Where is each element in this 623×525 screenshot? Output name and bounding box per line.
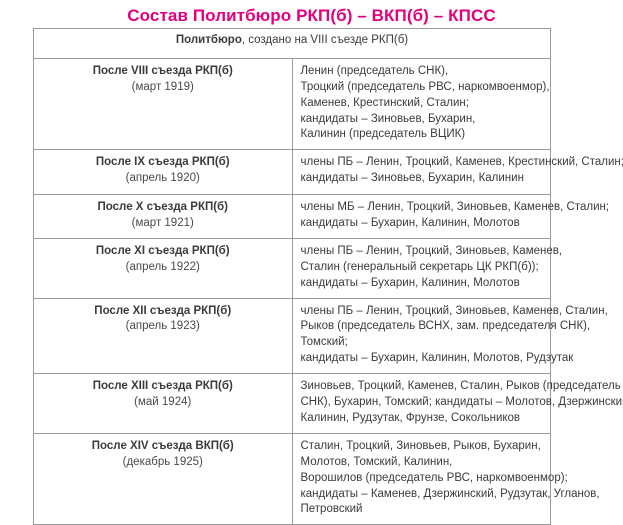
congress-cell: После VIII съезда РКП(б) (март 1919) — [34, 59, 293, 150]
congress-name: После XIV съезда ВКП(б) — [40, 439, 286, 455]
congress-name: После VIII съезда РКП(б) — [40, 64, 286, 80]
table-row: После XI съезда РКП(б) (апрель 1922) чле… — [34, 239, 551, 299]
members-cell: члены ПБ – Ленин, Троцкий, Зиновьев, Кам… — [292, 239, 551, 299]
members-line: Зиновьев, Троцкий, Каменев, Сталин, Рыко… — [301, 379, 545, 395]
page-title: Состав Политбюро РКП(б) – ВКП(б) – КПСС — [0, 6, 623, 26]
members-line: Каменев, Крестинский, Сталин; — [301, 96, 545, 112]
members-line: кандидаты – Бухарин, Калинин, Молотов, Р… — [301, 351, 545, 367]
members-line: Троцкий (председатель РВС, наркомвоенмор… — [301, 80, 545, 96]
congress-date: (апрель 1920) — [40, 171, 286, 187]
table-header-cell: Политбюро, создано на VIII съезде РКП(б) — [34, 29, 551, 59]
politburo-table-body: Политбюро, создано на VIII съезде РКП(б)… — [34, 29, 551, 525]
members-line: Калинин, Рудзутак, Фрунзе, Сокольников — [301, 411, 545, 427]
members-line: Ленин (председатель СНК), — [301, 64, 545, 80]
congress-cell: После XIV съезда ВКП(б) (декабрь 1925) — [34, 434, 293, 525]
table-row: После XIII съезда РКП(б) (май 1924) Зино… — [34, 374, 551, 434]
politburo-table-wrapper: Политбюро, создано на VIII съезде РКП(б)… — [33, 28, 551, 525]
congress-cell: После XI съезда РКП(б) (апрель 1922) — [34, 239, 293, 299]
table-header-strong: Политбюро — [176, 34, 242, 46]
members-cell: Зиновьев, Троцкий, Каменев, Сталин, Рыко… — [292, 374, 551, 434]
members-line: Томский; — [301, 335, 545, 351]
document-page: Состав Политбюро РКП(б) – ВКП(б) – КПСС … — [0, 0, 623, 428]
table-row: После X съезда РКП(б) (март 1921) члены … — [34, 195, 551, 239]
table-header-row: Политбюро, создано на VIII съезде РКП(б) — [34, 29, 551, 59]
members-line: Рыков (председатель ВСНХ, зам. председат… — [301, 319, 545, 335]
table-header-rest: , создано на VIII съезде РКП(б) — [242, 34, 408, 46]
table-row: После IX съезда РКП(б) (апрель 1920) чле… — [34, 150, 551, 195]
congress-cell: После X съезда РКП(б) (март 1921) — [34, 195, 293, 239]
members-cell: члены ПБ – Ленин, Троцкий, Зиновьев, Кам… — [292, 298, 551, 373]
congress-name: После IX съезда РКП(б) — [40, 155, 286, 171]
members-line: Сталин, Троцкий, Зиновьев, Рыков, Бухари… — [301, 439, 545, 455]
congress-date: (март 1921) — [40, 216, 286, 232]
members-line: Ворошилов (председатель РВС, наркомвоенм… — [301, 471, 545, 487]
members-line: Петровский — [301, 502, 545, 518]
members-line: члены ПБ – Ленин, Троцкий, Зиновьев, Кам… — [301, 304, 545, 320]
table-row: После XIV съезда ВКП(б) (декабрь 1925) С… — [34, 434, 551, 525]
congress-cell: После XIII съезда РКП(б) (май 1924) — [34, 374, 293, 434]
members-line: члены ПБ – Ленин, Троцкий, Каменев, Крес… — [301, 155, 545, 171]
members-line: члены ПБ – Ленин, Троцкий, Зиновьев, Кам… — [301, 244, 545, 260]
congress-cell: После IX съезда РКП(б) (апрель 1920) — [34, 150, 293, 195]
members-cell: Сталин, Троцкий, Зиновьев, Рыков, Бухари… — [292, 434, 551, 525]
table-row: После XII съезда РКП(б) (апрель 1923) чл… — [34, 298, 551, 373]
congress-date: (март 1919) — [40, 80, 286, 96]
congress-date: (декабрь 1925) — [40, 455, 286, 471]
members-line: кандидаты – Зиновьев, Бухарин, Калинин — [301, 171, 545, 187]
members-line: СНК), Бухарин, Томский; кандидаты – Моло… — [301, 395, 545, 411]
members-line: члены МБ – Ленин, Троцкий, Зиновьев, Кам… — [301, 200, 545, 216]
members-line: кандидаты – Каменев, Дзержинский, Рудзут… — [301, 487, 545, 503]
politburo-table: Политбюро, создано на VIII съезде РКП(б)… — [33, 28, 551, 525]
members-cell: члены ПБ – Ленин, Троцкий, Каменев, Крес… — [292, 150, 551, 195]
members-cell: Ленин (председатель СНК), Троцкий (предс… — [292, 59, 551, 150]
congress-date: (апрель 1922) — [40, 260, 286, 276]
congress-name: После XII съезда РКП(б) — [40, 304, 286, 320]
congress-name: После XI съезда РКП(б) — [40, 244, 286, 260]
congress-cell: После XII съезда РКП(б) (апрель 1923) — [34, 298, 293, 373]
members-line: кандидаты – Бухарин, Калинин, Молотов — [301, 216, 545, 232]
members-line: Сталин (генеральный секретарь ЦК РКП(б))… — [301, 260, 545, 276]
congress-name: После X съезда РКП(б) — [40, 200, 286, 216]
table-row: После VIII съезда РКП(б) (март 1919) Лен… — [34, 59, 551, 150]
congress-date: (май 1924) — [40, 395, 286, 411]
congress-name: После XIII съезда РКП(б) — [40, 379, 286, 395]
members-cell: члены МБ – Ленин, Троцкий, Зиновьев, Кам… — [292, 195, 551, 239]
congress-date: (апрель 1923) — [40, 319, 286, 335]
members-line: Калинин (председатель ВЦИК) — [301, 127, 545, 143]
members-line: Молотов, Томский, Калинин, — [301, 455, 545, 471]
members-line: кандидаты – Зиновьев, Бухарин, — [301, 112, 545, 128]
members-line: кандидаты – Бухарин, Калинин, Молотов — [301, 276, 545, 292]
